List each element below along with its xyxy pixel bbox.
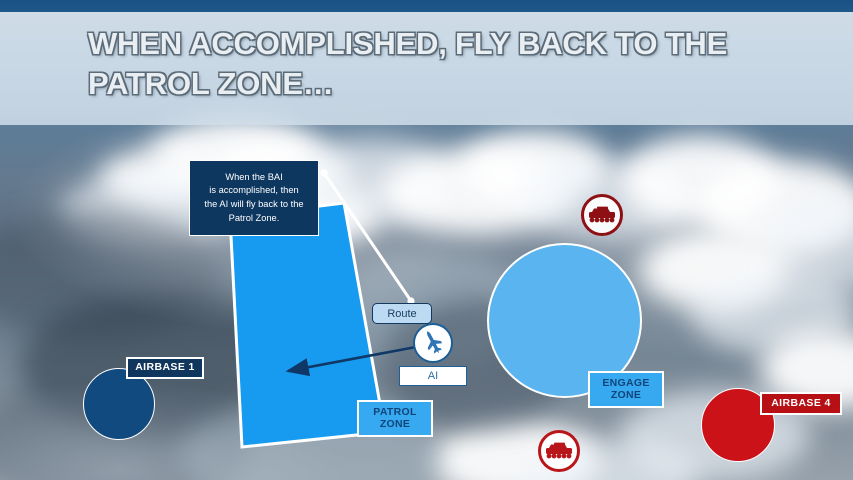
enemy-unit-marker-north[interactable] [581, 194, 623, 236]
armored-vehicle-icon [545, 442, 573, 460]
ai-label[interactable]: AI [399, 366, 467, 386]
route-label[interactable]: Route [372, 303, 432, 324]
callout-box: When the BAI is accomplished, then the A… [189, 160, 319, 236]
airbase-4-label[interactable]: AIRBASE 4 [760, 392, 842, 415]
armored-vehicle-icon [588, 206, 616, 224]
ai-aircraft-marker[interactable] [413, 323, 453, 363]
enemy-unit-marker-south[interactable] [538, 430, 580, 472]
airbase-1-label[interactable]: AIRBASE 1 [126, 357, 204, 379]
top-accent-strip [0, 0, 853, 12]
engage-zone-label[interactable]: ENGAGE ZONE [588, 371, 664, 408]
slide-canvas: When the BAI is accomplished, then the A… [0, 0, 853, 480]
fighter-jet-icon [418, 328, 450, 360]
patrol-zone-label[interactable]: PATROL ZONE [357, 400, 433, 437]
page-title: WHEN ACCOMPLISHED, FLY BACK TO THE PATRO… [88, 24, 788, 103]
